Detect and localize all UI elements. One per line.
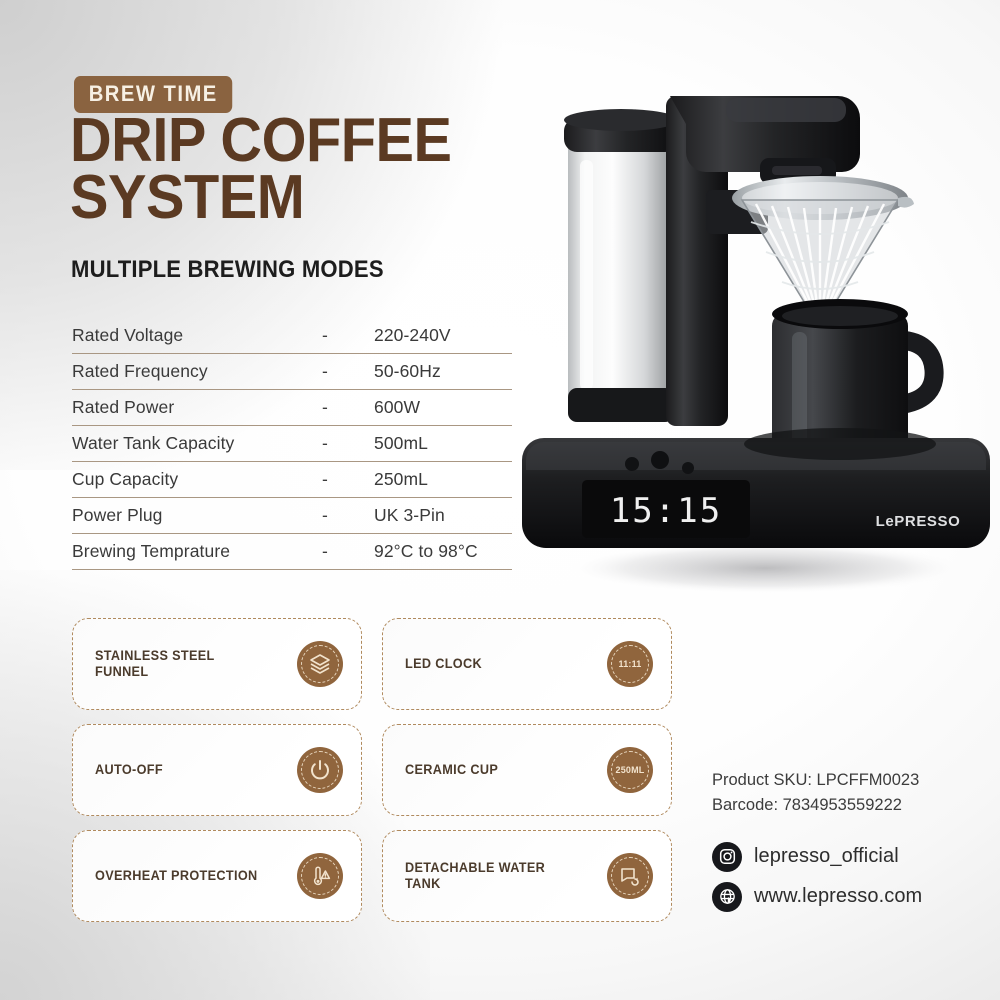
digital-clock-icon: 11:11 [607,641,653,687]
table-row: Rated Frequency - 50-60Hz [72,354,512,390]
spec-separator: - [322,433,374,454]
table-row: Power Plug - UK 3-Pin [72,498,512,534]
spec-value: 600W [374,397,420,418]
page-subtitle: MULTIPLE BREWING MODES [71,258,384,282]
page-title-line2: SYSTEM [70,169,498,226]
power-icon [297,747,343,793]
spec-separator: - [322,325,374,346]
spec-label: Cup Capacity [72,469,322,490]
spec-label: Water Tank Capacity [72,433,322,454]
spec-label: Rated Voltage [72,325,322,346]
product-barcode: Barcode: 7834953559222 [712,793,977,818]
spec-value: UK 3-Pin [374,505,445,526]
volume-250ml-icon: 250ML [607,747,653,793]
feature-label: AUTO-OFF [95,762,163,778]
feature-label: DETACHABLE WATER TANK [405,860,579,891]
spec-separator: - [322,397,374,418]
spec-value: 250mL [374,469,428,490]
table-row: Rated Voltage - 220-240V [72,318,512,354]
spec-separator: - [322,361,374,382]
digital-clock-digits: 11:11 [618,659,641,669]
website-url[interactable]: www.lepresso.com [754,885,922,908]
product-image-coffee-machine: 15:15 LePRESSO [520,40,990,600]
spec-value: 50-60Hz [374,361,441,382]
table-row: Rated Power - 600W [72,390,512,426]
feature-cards-grid: STAINLESS STEEL FUNNEL LED CLOCK 11:11 A… [72,618,672,922]
instagram-handle[interactable]: lepresso_official [754,845,899,868]
thermometer-warning-icon [297,853,343,899]
spec-separator: - [322,505,374,526]
specifications-table: Rated Voltage - 220-240V Rated Frequency… [72,318,512,570]
spec-separator: - [322,469,374,490]
spec-separator: - [322,541,374,562]
feature-card-overheat-protection[interactable]: OVERHEAT PROTECTION [72,830,362,922]
table-row: Cup Capacity - 250mL [72,462,512,498]
page-title: DRIP COFFEE SYSTEM [70,112,498,226]
spec-value: 220-240V [374,325,451,346]
product-sku: Product SKU: LPCFFM0023 [712,768,977,793]
feature-card-detachable-water-tank[interactable]: DETACHABLE WATER TANK [382,830,672,922]
table-row: Brewing Temprature - 92°C to 98°C [72,534,512,570]
spec-value: 92°C to 98°C [374,541,478,562]
spec-label: Rated Power [72,397,322,418]
spec-label: Rated Frequency [72,361,322,382]
website-row[interactable]: www.lepresso.com [712,882,977,912]
table-row: Water Tank Capacity - 500mL [72,426,512,462]
layers-icon [297,641,343,687]
feature-label: OVERHEAT PROTECTION [95,868,258,884]
feature-label: STAINLESS STEEL FUNNEL [95,648,269,679]
detachable-tank-icon [607,853,653,899]
contact-block: Product SKU: LPCFFM0023 Barcode: 7834953… [712,768,977,912]
feature-label: LED CLOCK [405,656,482,672]
feature-label: CERAMIC CUP [405,762,498,778]
volume-label: 250ML [615,765,644,775]
spec-label: Power Plug [72,505,322,526]
infographic-stage: BREW TIME DRIP COFFEE SYSTEM MULTIPLE BR… [0,0,1000,1000]
spec-label: Brewing Temprature [72,541,322,562]
feature-card-led-clock[interactable]: LED CLOCK 11:11 [382,618,672,710]
instagram-row[interactable]: lepresso_official [712,842,977,872]
instagram-icon[interactable] [712,842,742,872]
product-brand-mark: LePRESSO [876,513,961,530]
led-clock-text: 15:15 [610,491,722,531]
spec-value: 500mL [374,433,428,454]
feature-card-stainless-steel-funnel[interactable]: STAINLESS STEEL FUNNEL [72,618,362,710]
feature-card-ceramic-cup[interactable]: CERAMIC CUP 250ML [382,724,672,816]
feature-card-auto-off[interactable]: AUTO-OFF [72,724,362,816]
globe-icon[interactable] [712,882,742,912]
